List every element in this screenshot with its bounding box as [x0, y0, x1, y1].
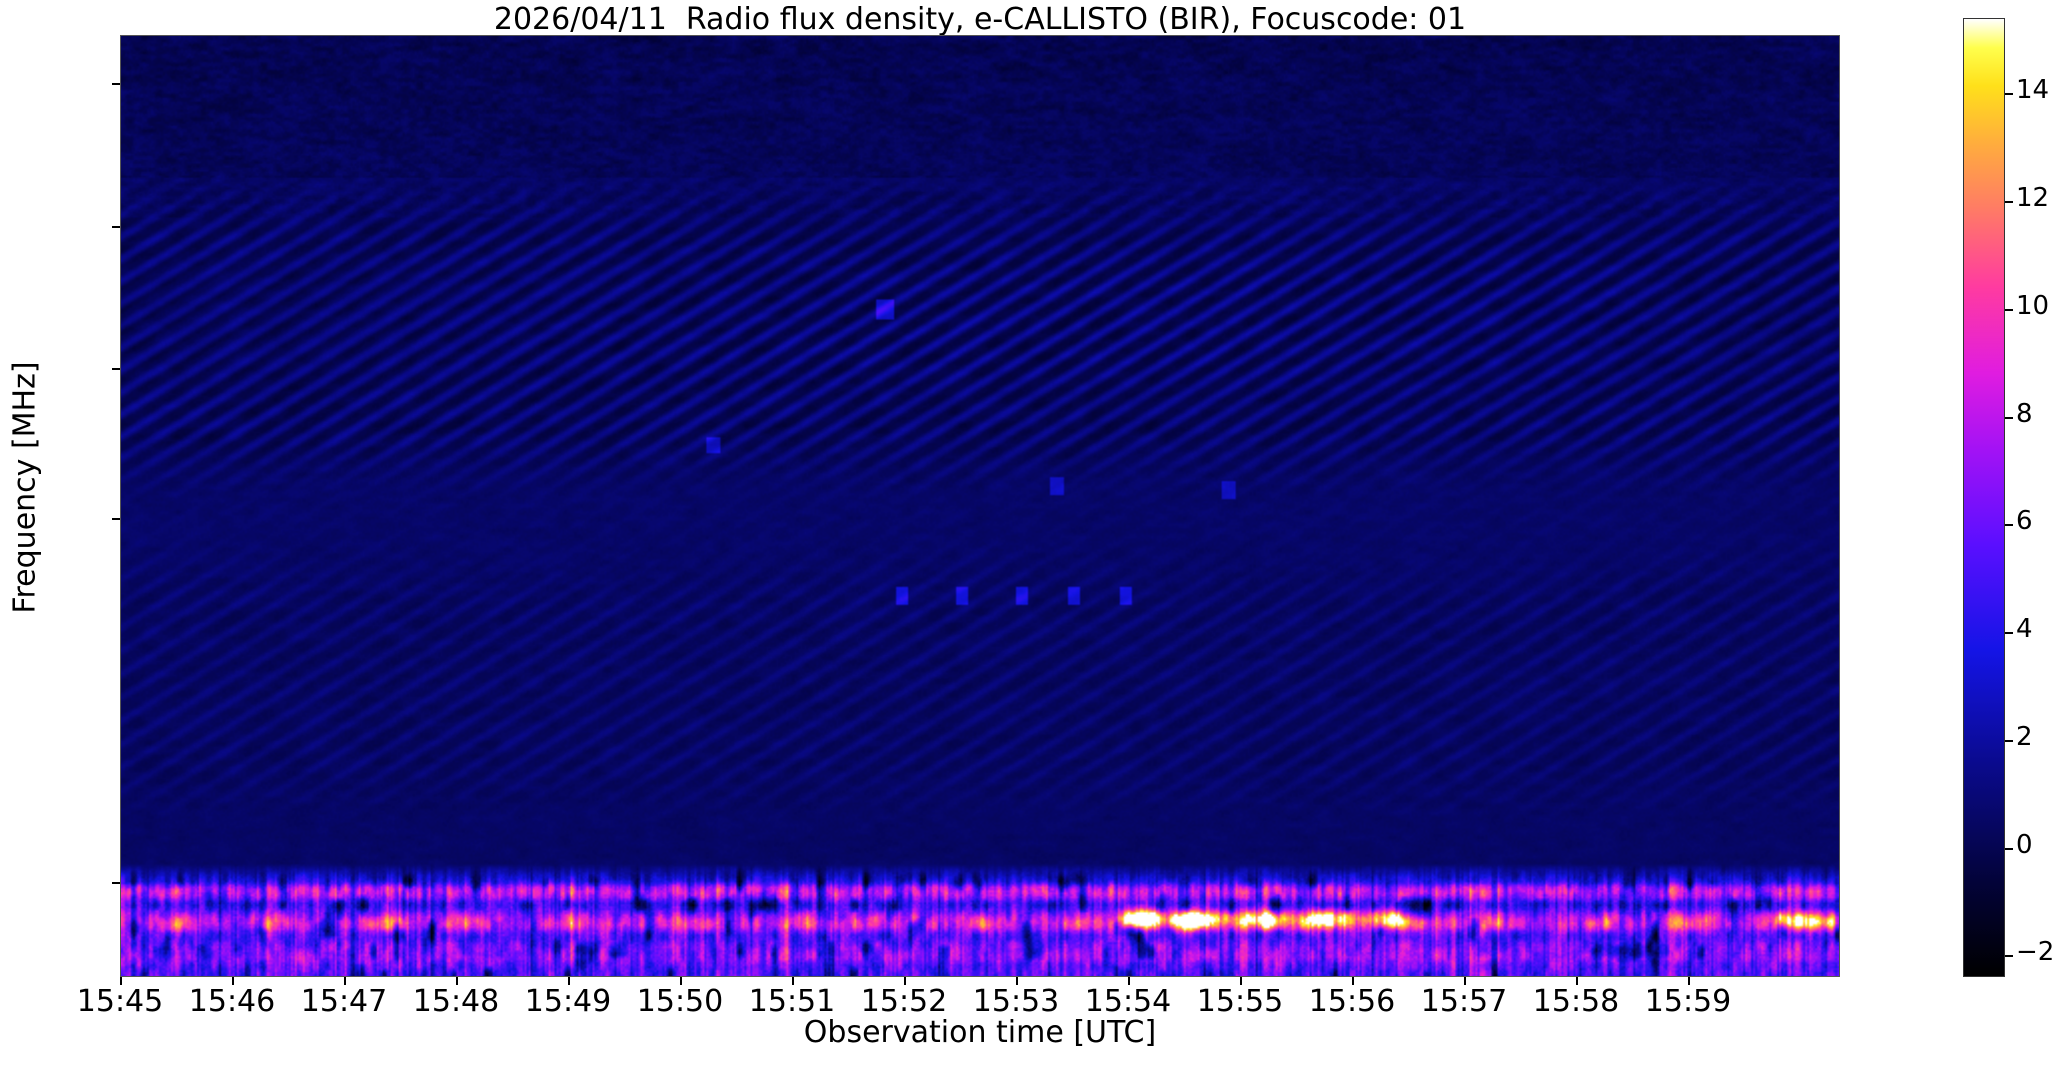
x-tick-label: 15:59 [1608, 984, 1768, 1019]
colorbar-tick-label: 6 [2016, 506, 2066, 536]
figure-canvas: 2026/04/11 Radio flux density, e-CALLIST… [0, 0, 2066, 1067]
spectrogram-image [121, 36, 1839, 976]
x-tick-mark [680, 977, 682, 985]
x-tick-mark [568, 977, 570, 985]
colorbar-tick-label: 4 [2016, 614, 2066, 644]
x-tick-mark [120, 977, 122, 985]
x-tick-mark [1464, 977, 1466, 985]
x-tick-mark [1352, 977, 1354, 985]
colorbar [1963, 18, 2005, 977]
colorbar-tick-label: −2 [2016, 937, 2066, 967]
colorbar-tick-label: 8 [2016, 399, 2066, 429]
colorbar-tick-mark [2005, 93, 2013, 95]
colorbar-tick-mark [2005, 309, 2013, 311]
x-axis-label: Observation time [UTC] [120, 1015, 1840, 1050]
x-tick-mark [456, 977, 458, 985]
x-tick-mark [232, 977, 234, 985]
x-tick-mark [1576, 977, 1578, 985]
spectrogram-plot-area [120, 35, 1840, 977]
colorbar-tick-label: 2 [2016, 722, 2066, 752]
y-tick-mark [112, 518, 120, 520]
y-tick-mark [112, 882, 120, 884]
colorbar-tick-mark [2005, 201, 2013, 203]
x-tick-mark [1128, 977, 1130, 985]
colorbar-tick-label: 14 [2016, 75, 2066, 105]
y-tick-mark [112, 226, 120, 228]
y-axis-label: Frequency [MHz] [8, 138, 43, 838]
colorbar-tick-label: 10 [2016, 291, 2066, 321]
x-tick-mark [1016, 977, 1018, 985]
colorbar-tick-mark [2005, 955, 2013, 957]
x-tick-mark [904, 977, 906, 985]
x-tick-mark [1688, 977, 1690, 985]
y-tick-mark [112, 83, 120, 85]
colorbar-tick-mark [2005, 632, 2013, 634]
colorbar-tick-mark [2005, 740, 2013, 742]
chart-title: 2026/04/11 Radio flux density, e-CALLIST… [0, 2, 1960, 37]
colorbar-tick-label: 0 [2016, 830, 2066, 860]
colorbar-tick-mark [2005, 524, 2013, 526]
x-tick-mark [792, 977, 794, 985]
x-tick-mark [344, 977, 346, 985]
colorbar-tick-mark [2005, 848, 2013, 850]
y-tick-mark [112, 368, 120, 370]
colorbar-tick-mark [2005, 417, 2013, 419]
colorbar-tick-label: 12 [2016, 183, 2066, 213]
x-tick-mark [1240, 977, 1242, 985]
colorbar-gradient [1964, 19, 2004, 976]
